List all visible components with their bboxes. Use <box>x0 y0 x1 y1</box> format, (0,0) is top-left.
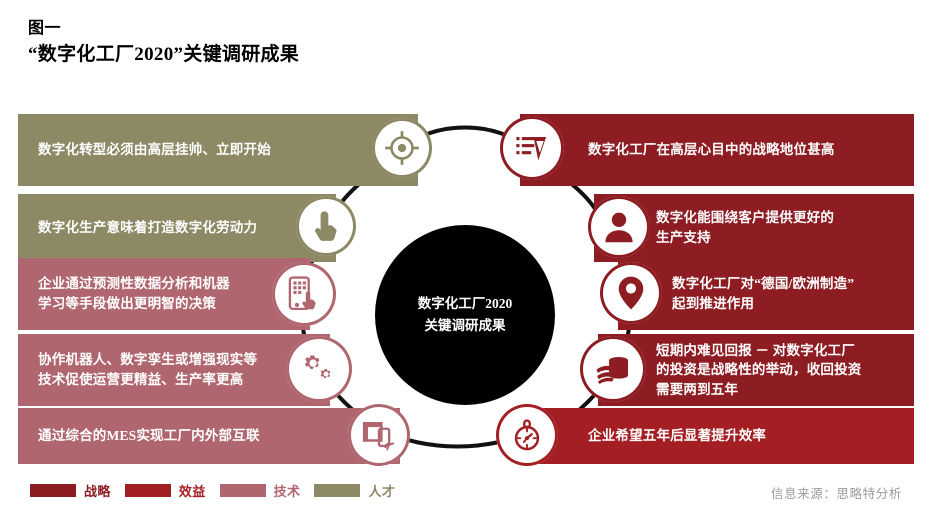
legend-swatch-tech <box>220 484 266 497</box>
right-bar-3[interactable]: 数字化工厂对“德国/欧洲制造” 起到推进作用 <box>618 258 914 330</box>
target-icon <box>384 130 420 166</box>
bubble-left-4[interactable] <box>286 336 352 402</box>
right-bar-1-label: 数字化工厂在高层心目中的战略地位甚高 <box>588 140 835 160</box>
left-bar-2[interactable]: 数字化生产意味着打造数字化劳动力 <box>18 194 336 262</box>
legend-item-benefit[interactable]: 效益 <box>125 481 206 500</box>
source-note: 信息来源：思略特分析 <box>771 483 902 502</box>
left-bar-1[interactable]: 数字化转型必须由高层挂帅、立即开始 <box>18 114 418 186</box>
legend-swatch-benefit <box>125 484 171 497</box>
left-bar-5[interactable]: 通过综合的MES实现工厂内外部互联 <box>18 408 400 464</box>
person-icon <box>603 210 635 244</box>
stopwatch-icon <box>510 417 544 453</box>
bubble-right-1[interactable] <box>500 116 564 180</box>
center-line-1: 数字化工厂2020 <box>418 293 513 315</box>
bubble-left-1[interactable] <box>372 118 432 178</box>
legend-label-tech: 技术 <box>274 481 301 500</box>
devices-wireless-icon <box>361 418 397 452</box>
center-line-2: 关键调研成果 <box>418 315 513 337</box>
tablet-touch-icon <box>287 276 321 312</box>
bubble-left-3[interactable] <box>272 262 336 326</box>
legend-item-talent[interactable]: 人才 <box>314 481 395 500</box>
legend-item-tech[interactable]: 技术 <box>220 481 301 500</box>
right-bar-3-label: 数字化工厂对“德国/欧洲制造” 起到推进作用 <box>672 274 854 313</box>
center-circle: 数字化工厂2020 关键调研成果 <box>375 225 555 405</box>
left-bar-4-label: 协作机器人、数字孪生或增强现实等 技术促使运营更精益、生产率更高 <box>38 350 257 389</box>
page-title: “数字化工厂2020”关键调研成果 <box>28 42 299 69</box>
legend-label-strategy: 战略 <box>84 481 111 500</box>
bubble-right-4[interactable] <box>580 336 646 402</box>
legend-label-benefit: 效益 <box>179 481 206 500</box>
legend-swatch-strategy <box>30 484 76 497</box>
left-bar-3-label: 企业通过预测性数据分析和机器 学习等手段做出更明智的决策 <box>38 274 230 313</box>
infographic-root: 图一 “数字化工厂2020”关键调研成果 数字化转型必须由高层挂帅、立即开始 数… <box>0 0 930 520</box>
coins-icon <box>594 352 632 386</box>
header: 图一 “数字化工厂2020”关键调研成果 <box>28 18 299 68</box>
left-bar-4[interactable]: 协作机器人、数字孪生或增强现实等 技术促使运营更精益、生产率更高 <box>18 334 330 406</box>
right-bar-4-label: 短期内难见回报 － 对数字化工厂 的投资是战略性的举动，收回投资 需要两到五年 <box>656 341 862 400</box>
legend: 战略 效益 技术 人才 <box>30 481 395 500</box>
bubble-right-2[interactable] <box>588 196 650 258</box>
bubble-left-5[interactable] <box>348 404 410 466</box>
left-bar-3[interactable]: 企业通过预测性数据分析和机器 学习等手段做出更明智的决策 <box>18 258 310 330</box>
gears-icon <box>300 351 338 387</box>
right-bar-5-label: 企业希望五年后显著提升效率 <box>588 426 766 446</box>
left-bar-1-label: 数字化转型必须由高层挂帅、立即开始 <box>38 140 271 160</box>
figure-kicker: 图一 <box>28 18 299 40</box>
pointing-hand-icon <box>310 209 342 243</box>
right-bar-2-label: 数字化能围绕客户提供更好的 生产支持 <box>656 208 834 247</box>
bubble-left-2[interactable] <box>296 196 356 256</box>
bubble-right-3[interactable] <box>600 262 662 324</box>
diagram-stage: 数字化转型必须由高层挂帅、立即开始 数字化生产意味着打造数字化劳动力 企业通过预… <box>0 100 930 465</box>
right-bar-5[interactable]: 企业希望五年后显著提升效率 <box>522 408 914 464</box>
location-pin-icon <box>616 275 646 311</box>
left-bar-5-label: 通过综合的MES实现工厂内外部互联 <box>38 426 260 446</box>
left-bar-2-label: 数字化生产意味着打造数字化劳动力 <box>38 218 257 238</box>
legend-label-talent: 人才 <box>368 481 395 500</box>
bubble-right-5[interactable] <box>496 404 558 466</box>
right-bar-1[interactable]: 数字化工厂在高层心目中的战略地位甚高 <box>520 114 914 186</box>
legend-swatch-talent <box>314 484 360 497</box>
checklist-icon <box>514 132 550 164</box>
legend-item-strategy[interactable]: 战略 <box>30 481 111 500</box>
